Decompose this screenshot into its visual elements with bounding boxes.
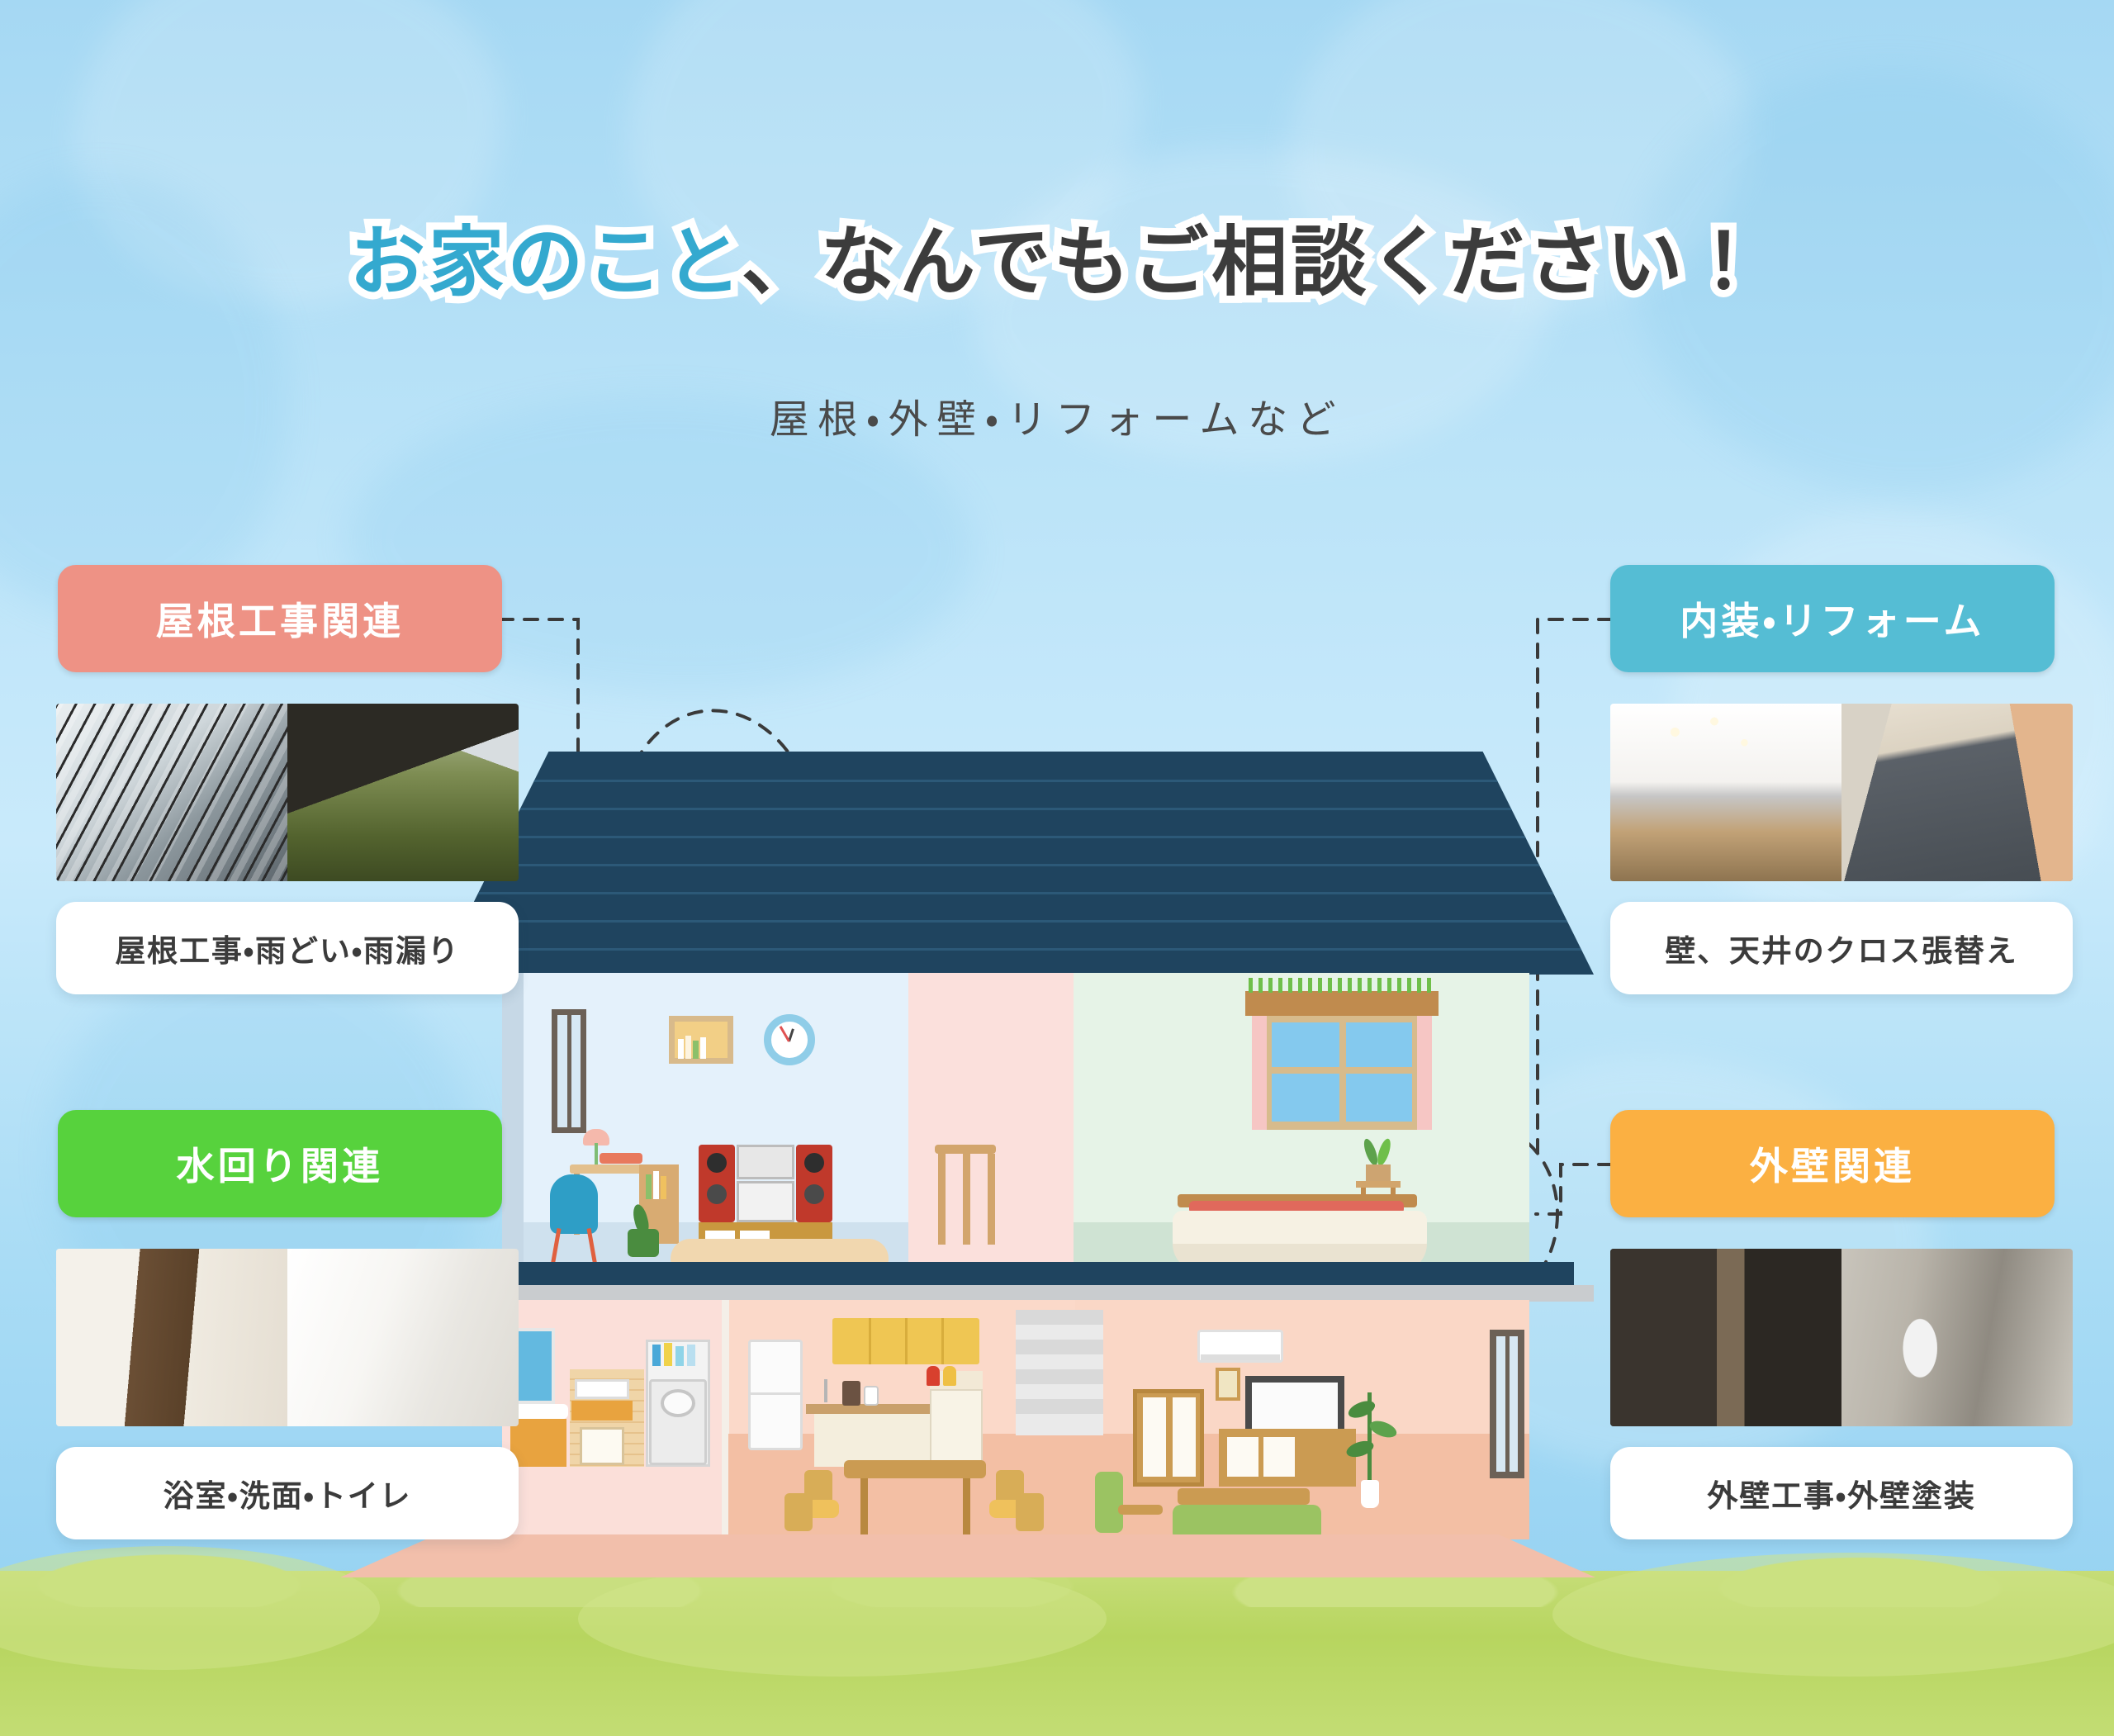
house-roof — [438, 752, 1594, 975]
book — [678, 1039, 684, 1059]
house-foundation — [340, 1534, 1595, 1577]
photo-bathroom[interactable] — [56, 1249, 287, 1426]
stereo-deck — [737, 1181, 794, 1222]
badge-water[interactable]: 水回り関連 — [58, 1110, 502, 1217]
caption-water-text: 浴室・洗面・トイレ — [164, 1471, 412, 1515]
coffee-maker — [842, 1381, 860, 1406]
bath-window — [514, 1328, 555, 1404]
photo-exterior-wall[interactable] — [1610, 1249, 1841, 1426]
shelf-book — [653, 1171, 659, 1199]
shelf-book — [661, 1176, 666, 1199]
study-chair-seat — [550, 1174, 598, 1234]
kitchen-faucet — [824, 1379, 827, 1402]
living-armchair — [1095, 1472, 1123, 1533]
laundry-basket — [580, 1427, 624, 1465]
grass-blob — [1552, 1553, 2114, 1677]
dining-table-leg — [963, 1478, 970, 1538]
washing-machine-door — [661, 1389, 695, 1417]
badge-exterior-label: 外壁関連 — [1750, 1136, 1916, 1191]
caption-roof-text: 屋根工事・雨どい・雨漏り — [115, 926, 459, 970]
book — [685, 1036, 691, 1059]
ceiling-strip — [502, 1285, 1594, 1302]
cabinet-glass — [1143, 1397, 1166, 1477]
caption-exterior: 外壁工事・外壁塗装 — [1610, 1447, 2073, 1539]
speaker-cone — [707, 1184, 727, 1204]
window-curtain — [1252, 1014, 1267, 1130]
fridge-split — [748, 1392, 803, 1395]
dining-chair — [784, 1493, 813, 1531]
bedroom-side-table — [1356, 1181, 1401, 1188]
shelf-book — [646, 1174, 652, 1199]
planter-greens — [1249, 978, 1435, 993]
left-gable — [502, 973, 524, 1266]
page-title-rest: 、なんでもご相談ください！ — [742, 221, 1765, 305]
tv-board-door — [1263, 1437, 1295, 1477]
infographic-canvas: お家のこと、なんでもご相談ください！ 屋根・外壁・リフォームなど — [0, 0, 2114, 1736]
kitchen-drawers — [930, 1389, 983, 1467]
window-mullion-h — [1263, 1067, 1420, 1074]
kitchen-base-cabinet — [814, 1414, 930, 1467]
dining-table-leg — [860, 1478, 868, 1538]
caption-water: 浴室・洗面・トイレ — [56, 1447, 519, 1539]
detergent-bottle — [664, 1343, 672, 1366]
stair-handrail — [935, 1145, 996, 1154]
cabinet-seam — [869, 1318, 871, 1364]
armchair-arm — [1118, 1505, 1163, 1515]
book — [700, 1037, 706, 1059]
badge-roof-label: 屋根工事関連 — [156, 591, 405, 646]
handrail-post — [988, 1154, 995, 1245]
living-plant-vase — [1361, 1480, 1379, 1508]
photos-interior — [1610, 704, 2073, 881]
towel-drawer — [571, 1401, 633, 1421]
living-coffee-table — [1178, 1488, 1310, 1505]
speaker-cone — [804, 1153, 824, 1173]
floor-slab — [457, 1262, 1574, 1287]
caption-interior: 壁、天井のクロス張替え — [1610, 902, 2073, 994]
photo-wallpaper-work[interactable] — [1841, 704, 2073, 881]
detergent-bottle — [652, 1345, 661, 1366]
badge-exterior[interactable]: 外壁関連 — [1610, 1110, 2055, 1217]
dining-table-top — [844, 1460, 986, 1478]
page-title: お家のこと、なんでもご相談ください！ — [0, 225, 2114, 301]
cabinet-glass — [1173, 1397, 1196, 1477]
handrail-post — [938, 1154, 946, 1245]
towel-shelf — [575, 1379, 629, 1399]
photo-roof-tiles[interactable] — [56, 704, 287, 881]
page-title-accent: お家のこと — [349, 221, 742, 305]
stereo-amp — [737, 1145, 794, 1179]
page-subtitle: 屋根・外壁・リフォームなど — [0, 387, 2114, 444]
condiment-red — [927, 1366, 940, 1386]
cabinet-seam — [905, 1318, 908, 1364]
sliding-door-mullion — [1505, 1330, 1510, 1478]
dining-chair — [1016, 1493, 1044, 1531]
badge-interior[interactable]: 内装・リフォーム — [1610, 565, 2055, 672]
caption-exterior-text: 外壁工事・外壁塗装 — [1707, 1471, 1975, 1515]
bedroom-plant-pot — [1366, 1164, 1391, 1183]
study-window-mullion — [567, 1009, 571, 1133]
badge-water-label: 水回り関連 — [177, 1136, 384, 1191]
badge-interior-label: 内装・リフォーム — [1680, 591, 1984, 646]
photos-exterior — [1610, 1249, 2073, 1426]
photo-washbasin[interactable] — [287, 1249, 519, 1426]
ac-vent — [1201, 1354, 1280, 1360]
house-cutaway-illustration — [438, 752, 1594, 1610]
refrigerator — [748, 1340, 803, 1450]
photo-living-room[interactable] — [1610, 704, 1841, 881]
caption-interior-text: 壁、天井のクロス張替え — [1665, 926, 2017, 970]
vanity-cabinet — [510, 1419, 566, 1467]
desk-tray — [600, 1153, 642, 1164]
window-planter-box — [1245, 991, 1439, 1016]
wall-art — [1216, 1368, 1240, 1401]
handrail-post — [963, 1154, 970, 1245]
staircase — [1016, 1310, 1103, 1435]
desk-lamp-stem — [595, 1143, 598, 1164]
detergent-bottle — [687, 1345, 695, 1366]
caption-roof: 屋根工事・雨どい・雨漏り — [56, 902, 519, 994]
tv-board-door — [1227, 1437, 1258, 1477]
photos-water — [56, 1249, 519, 1426]
condiment-yellow — [943, 1366, 956, 1386]
badge-roof[interactable]: 屋根工事関連 — [58, 565, 502, 672]
cabinet-seam — [941, 1318, 944, 1364]
speaker-cone — [804, 1184, 824, 1204]
book — [693, 1041, 699, 1059]
kettle — [864, 1386, 879, 1406]
window-curtain — [1417, 1014, 1432, 1130]
speaker-cone — [707, 1153, 727, 1173]
detergent-bottle — [675, 1346, 684, 1366]
photo-wall-painter[interactable] — [1841, 1249, 2073, 1426]
photo-rain-gutter[interactable] — [287, 704, 519, 881]
photos-roof — [56, 704, 519, 881]
